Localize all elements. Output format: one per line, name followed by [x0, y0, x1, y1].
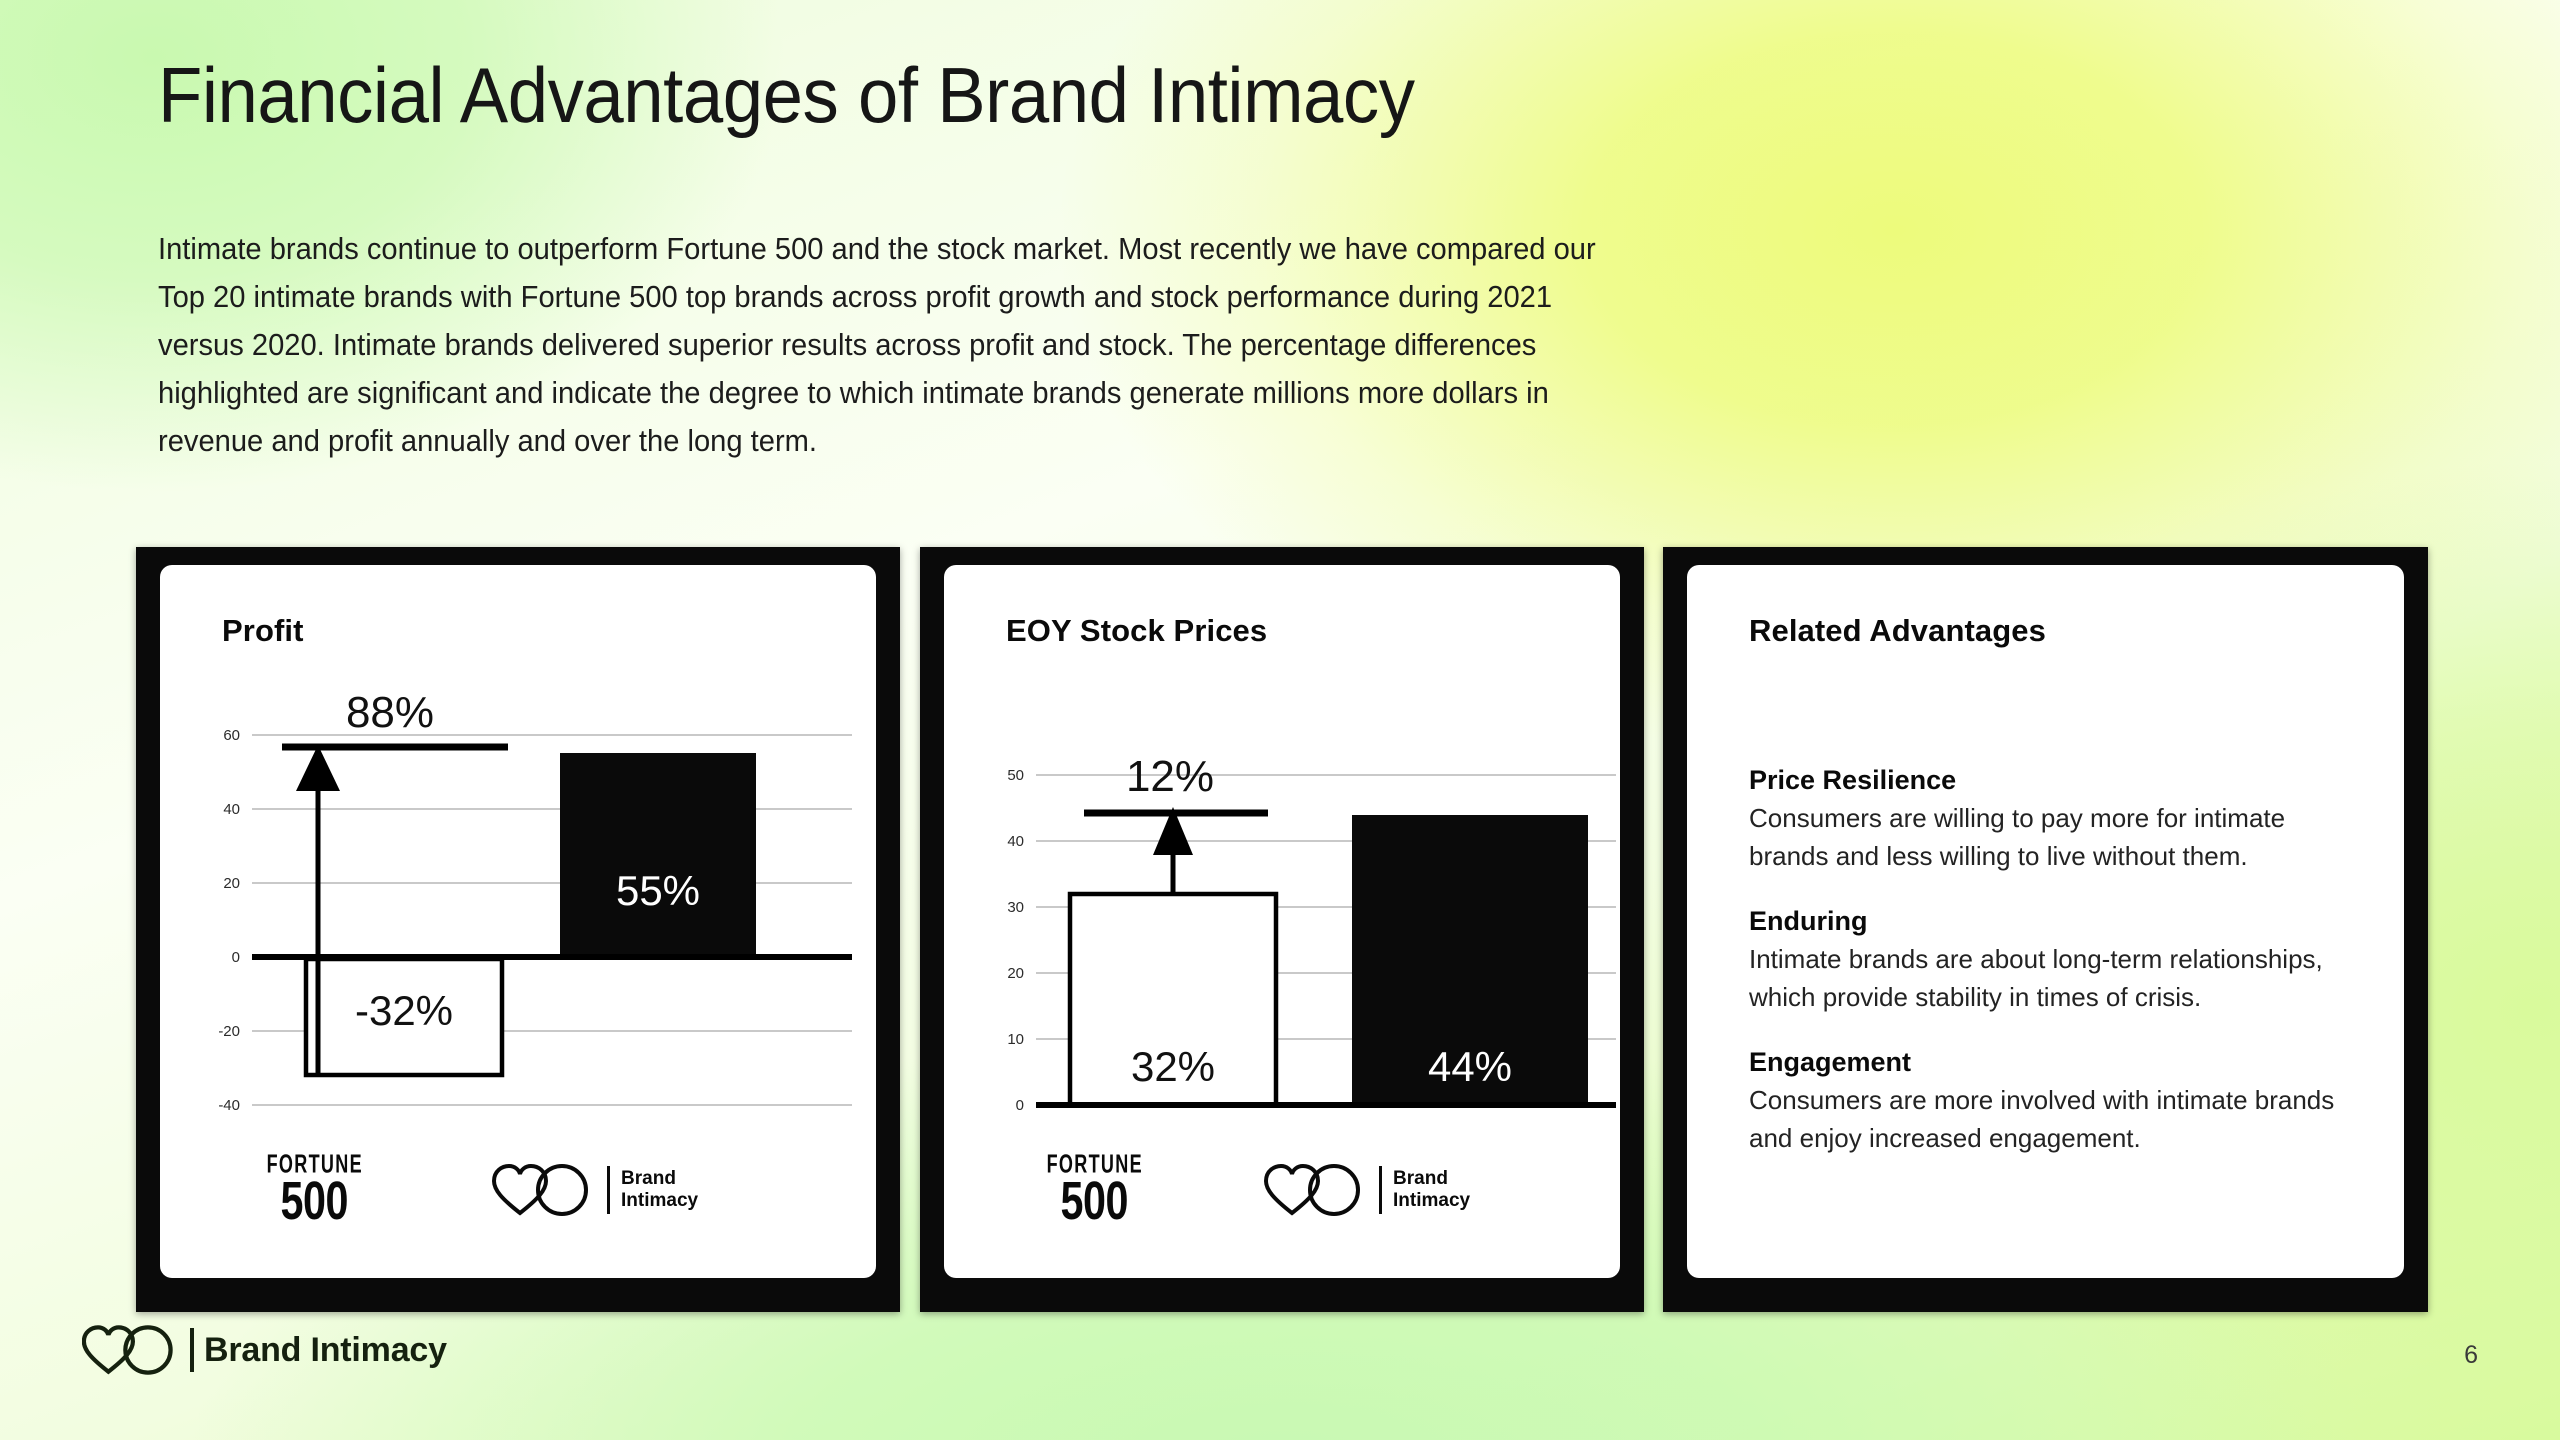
brand-intimacy-legend-text: Brand Intimacy	[1393, 1168, 1470, 1211]
profit-ytick-20: 20	[223, 875, 240, 892]
advantage-text: Intimate brands are about long-term rela…	[1749, 940, 2346, 1016]
advantage-text: Consumers are more involved with intimat…	[1749, 1081, 2346, 1157]
brand-intimacy-legend-text: Brand Intimacy	[621, 1168, 698, 1211]
page-body-text: Intimate brands continue to outperform F…	[158, 225, 1619, 465]
brand-intimacy-line2: Intimacy	[1393, 1190, 1470, 1211]
heart-circle-logo-icon	[492, 1163, 596, 1217]
stock-bar-label-brand-intimacy: 44%	[1428, 1043, 1512, 1090]
profit-legend: FORTUNE 500 Brand Intimacy	[160, 1153, 876, 1226]
heart-circle-logo-icon	[82, 1324, 180, 1376]
profit-card: Profit 60 40 20	[160, 565, 876, 1278]
slide-root: Financial Advantages of Brand Intimacy I…	[0, 0, 2560, 1440]
panel-stock: EOY Stock Prices 50 40 30	[920, 547, 1644, 1312]
stock-delta-arrow-icon	[1084, 807, 1268, 894]
fortune-number: 500	[1061, 1175, 1129, 1229]
stock-card: EOY Stock Prices 50 40 30	[944, 565, 1620, 1278]
footer-brand-logo: Brand Intimacy	[82, 1324, 447, 1376]
advantage-item-engagement: Engagement Consumers are more involved w…	[1749, 1047, 2346, 1157]
profit-ytick-60: 60	[223, 727, 240, 744]
profit-chart: 60 40 20 0 -20 -40 -32% 55%	[190, 695, 870, 1135]
stock-y-ticks: 50 40 30 20 10 0	[1007, 767, 1024, 1114]
stock-delta-label: 12%	[1126, 752, 1214, 801]
legend-divider	[607, 1166, 611, 1214]
advantage-heading: Price Resilience	[1749, 765, 2346, 796]
profit-card-title: Profit	[222, 613, 304, 649]
stock-ytick-40: 40	[1007, 833, 1024, 850]
stock-ytick-0: 0	[1016, 1097, 1024, 1114]
profit-bar-label-fortune500: -32%	[355, 987, 453, 1034]
stock-ytick-20: 20	[1007, 965, 1024, 982]
advantages-card: Related Advantages Price Resilience Cons…	[1687, 565, 2404, 1278]
brand-intimacy-legend-logo: Brand Intimacy	[492, 1163, 699, 1217]
profit-ytick-n20: -20	[218, 1023, 240, 1040]
stock-chart: 50 40 30 20 10 0 32% 44%	[974, 695, 1634, 1135]
legend-divider	[1379, 1166, 1383, 1214]
stock-card-title: EOY Stock Prices	[1006, 613, 1267, 649]
brand-intimacy-line2: Intimacy	[621, 1190, 698, 1211]
advantage-item-enduring: Enduring Intimate brands are about long-…	[1749, 906, 2346, 1016]
advantages-list: Price Resilience Consumers are willing t…	[1749, 765, 2346, 1157]
stock-chart-svg: 50 40 30 20 10 0 32% 44%	[974, 695, 1634, 1135]
panel-related-advantages: Related Advantages Price Resilience Cons…	[1663, 547, 2428, 1312]
profit-ytick-40: 40	[223, 801, 240, 818]
brand-intimacy-line1: Brand	[621, 1168, 698, 1189]
profit-delta-label: 88%	[346, 695, 434, 737]
footer-divider	[190, 1328, 194, 1372]
panel-profit: Profit 60 40 20	[136, 547, 900, 1312]
fortune-500-logo-icon: FORTUNE 500	[256, 1153, 374, 1226]
page-title: Financial Advantages of Brand Intimacy	[158, 50, 1415, 141]
heart-circle-logo-icon	[1264, 1163, 1368, 1217]
fortune-500-logo-icon: FORTUNE 500	[1036, 1153, 1154, 1226]
profit-bar-brand-intimacy	[560, 753, 756, 957]
advantage-heading: Enduring	[1749, 906, 2346, 937]
stock-ytick-10: 10	[1007, 1031, 1024, 1048]
advantage-item-price-resilience: Price Resilience Consumers are willing t…	[1749, 765, 2346, 875]
profit-bar-label-brand-intimacy: 55%	[616, 867, 700, 914]
page-body-paragraph: Intimate brands continue to outperform F…	[158, 225, 1619, 465]
advantage-text: Consumers are willing to pay more for in…	[1749, 799, 2346, 875]
stock-ytick-30: 30	[1007, 899, 1024, 916]
stock-legend: FORTUNE 500 Brand Intimacy	[944, 1153, 1620, 1226]
profit-chart-svg: 60 40 20 0 -20 -40 -32% 55%	[190, 695, 870, 1135]
fortune-number: 500	[281, 1175, 349, 1229]
stock-ytick-50: 50	[1007, 767, 1024, 784]
advantage-heading: Engagement	[1749, 1047, 2346, 1078]
profit-ytick-n40: -40	[218, 1097, 240, 1114]
brand-intimacy-line1: Brand	[1393, 1168, 1470, 1189]
stock-bar-label-fortune500: 32%	[1131, 1043, 1215, 1090]
profit-ytick-0: 0	[232, 949, 240, 966]
footer-brand-name: Brand Intimacy	[204, 1331, 447, 1370]
advantages-card-title: Related Advantages	[1749, 613, 2046, 649]
profit-y-ticks: 60 40 20 0 -20 -40	[218, 727, 240, 1114]
brand-intimacy-legend-logo: Brand Intimacy	[1264, 1163, 1471, 1217]
page-number: 6	[2464, 1341, 2478, 1370]
